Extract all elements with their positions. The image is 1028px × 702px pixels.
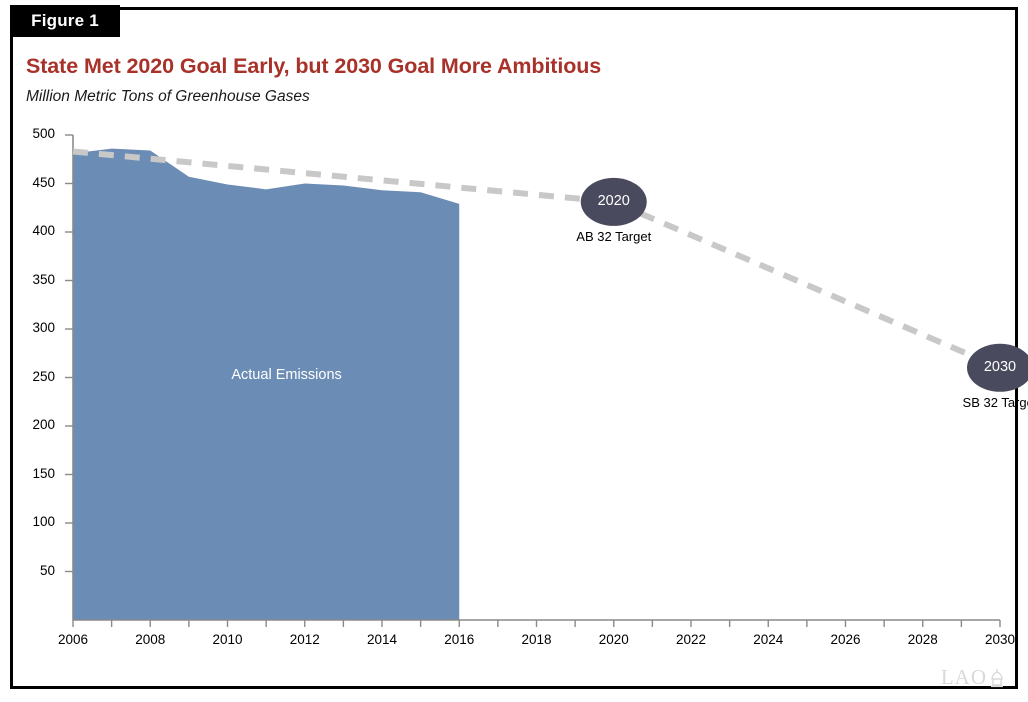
y-tick-200: 200 bbox=[15, 417, 55, 432]
sb-32-target-caption: SB 32 Target bbox=[930, 395, 1028, 410]
y-tick-250: 250 bbox=[15, 369, 55, 384]
x-tick-2024: 2024 bbox=[743, 632, 793, 647]
actual-emissions-label: Actual Emissions bbox=[231, 367, 341, 383]
ab-32-target-bubble-label: 2020 bbox=[574, 193, 654, 209]
y-tick-300: 300 bbox=[15, 320, 55, 335]
x-tick-2008: 2008 bbox=[125, 632, 175, 647]
x-tick-2020: 2020 bbox=[589, 632, 639, 647]
y-tick-350: 350 bbox=[15, 272, 55, 287]
y-tick-100: 100 bbox=[15, 514, 55, 529]
lao-logo: LAO bbox=[941, 667, 1006, 688]
figure-number-label: Figure 1 bbox=[31, 11, 99, 31]
x-tick-2026: 2026 bbox=[821, 632, 871, 647]
x-tick-2012: 2012 bbox=[280, 632, 330, 647]
chart-subtitle: Million Metric Tons of Greenhouse Gases bbox=[26, 88, 310, 106]
sb-32-target-bubble-label: 2030 bbox=[960, 359, 1028, 375]
y-tick-50: 50 bbox=[15, 563, 55, 578]
lao-logo-text: LAO bbox=[941, 667, 987, 688]
x-tick-2016: 2016 bbox=[434, 632, 484, 647]
y-tick-500: 500 bbox=[15, 126, 55, 141]
x-tick-2022: 2022 bbox=[666, 632, 716, 647]
figure-number-tab: Figure 1 bbox=[10, 5, 120, 37]
x-tick-2006: 2006 bbox=[48, 632, 98, 647]
y-tick-450: 450 bbox=[15, 175, 55, 190]
x-tick-2028: 2028 bbox=[898, 632, 948, 647]
chart-title: State Met 2020 Goal Early, but 2030 Goal… bbox=[26, 54, 601, 79]
figure-frame bbox=[10, 7, 1018, 689]
y-tick-150: 150 bbox=[15, 466, 55, 481]
ab-32-target-caption: AB 32 Target bbox=[544, 229, 684, 244]
lao-capitol-icon bbox=[988, 668, 1006, 688]
y-tick-400: 400 bbox=[15, 223, 55, 238]
x-tick-2018: 2018 bbox=[512, 632, 562, 647]
x-tick-2014: 2014 bbox=[357, 632, 407, 647]
x-tick-2010: 2010 bbox=[203, 632, 253, 647]
x-tick-2030: 2030 bbox=[975, 632, 1025, 647]
